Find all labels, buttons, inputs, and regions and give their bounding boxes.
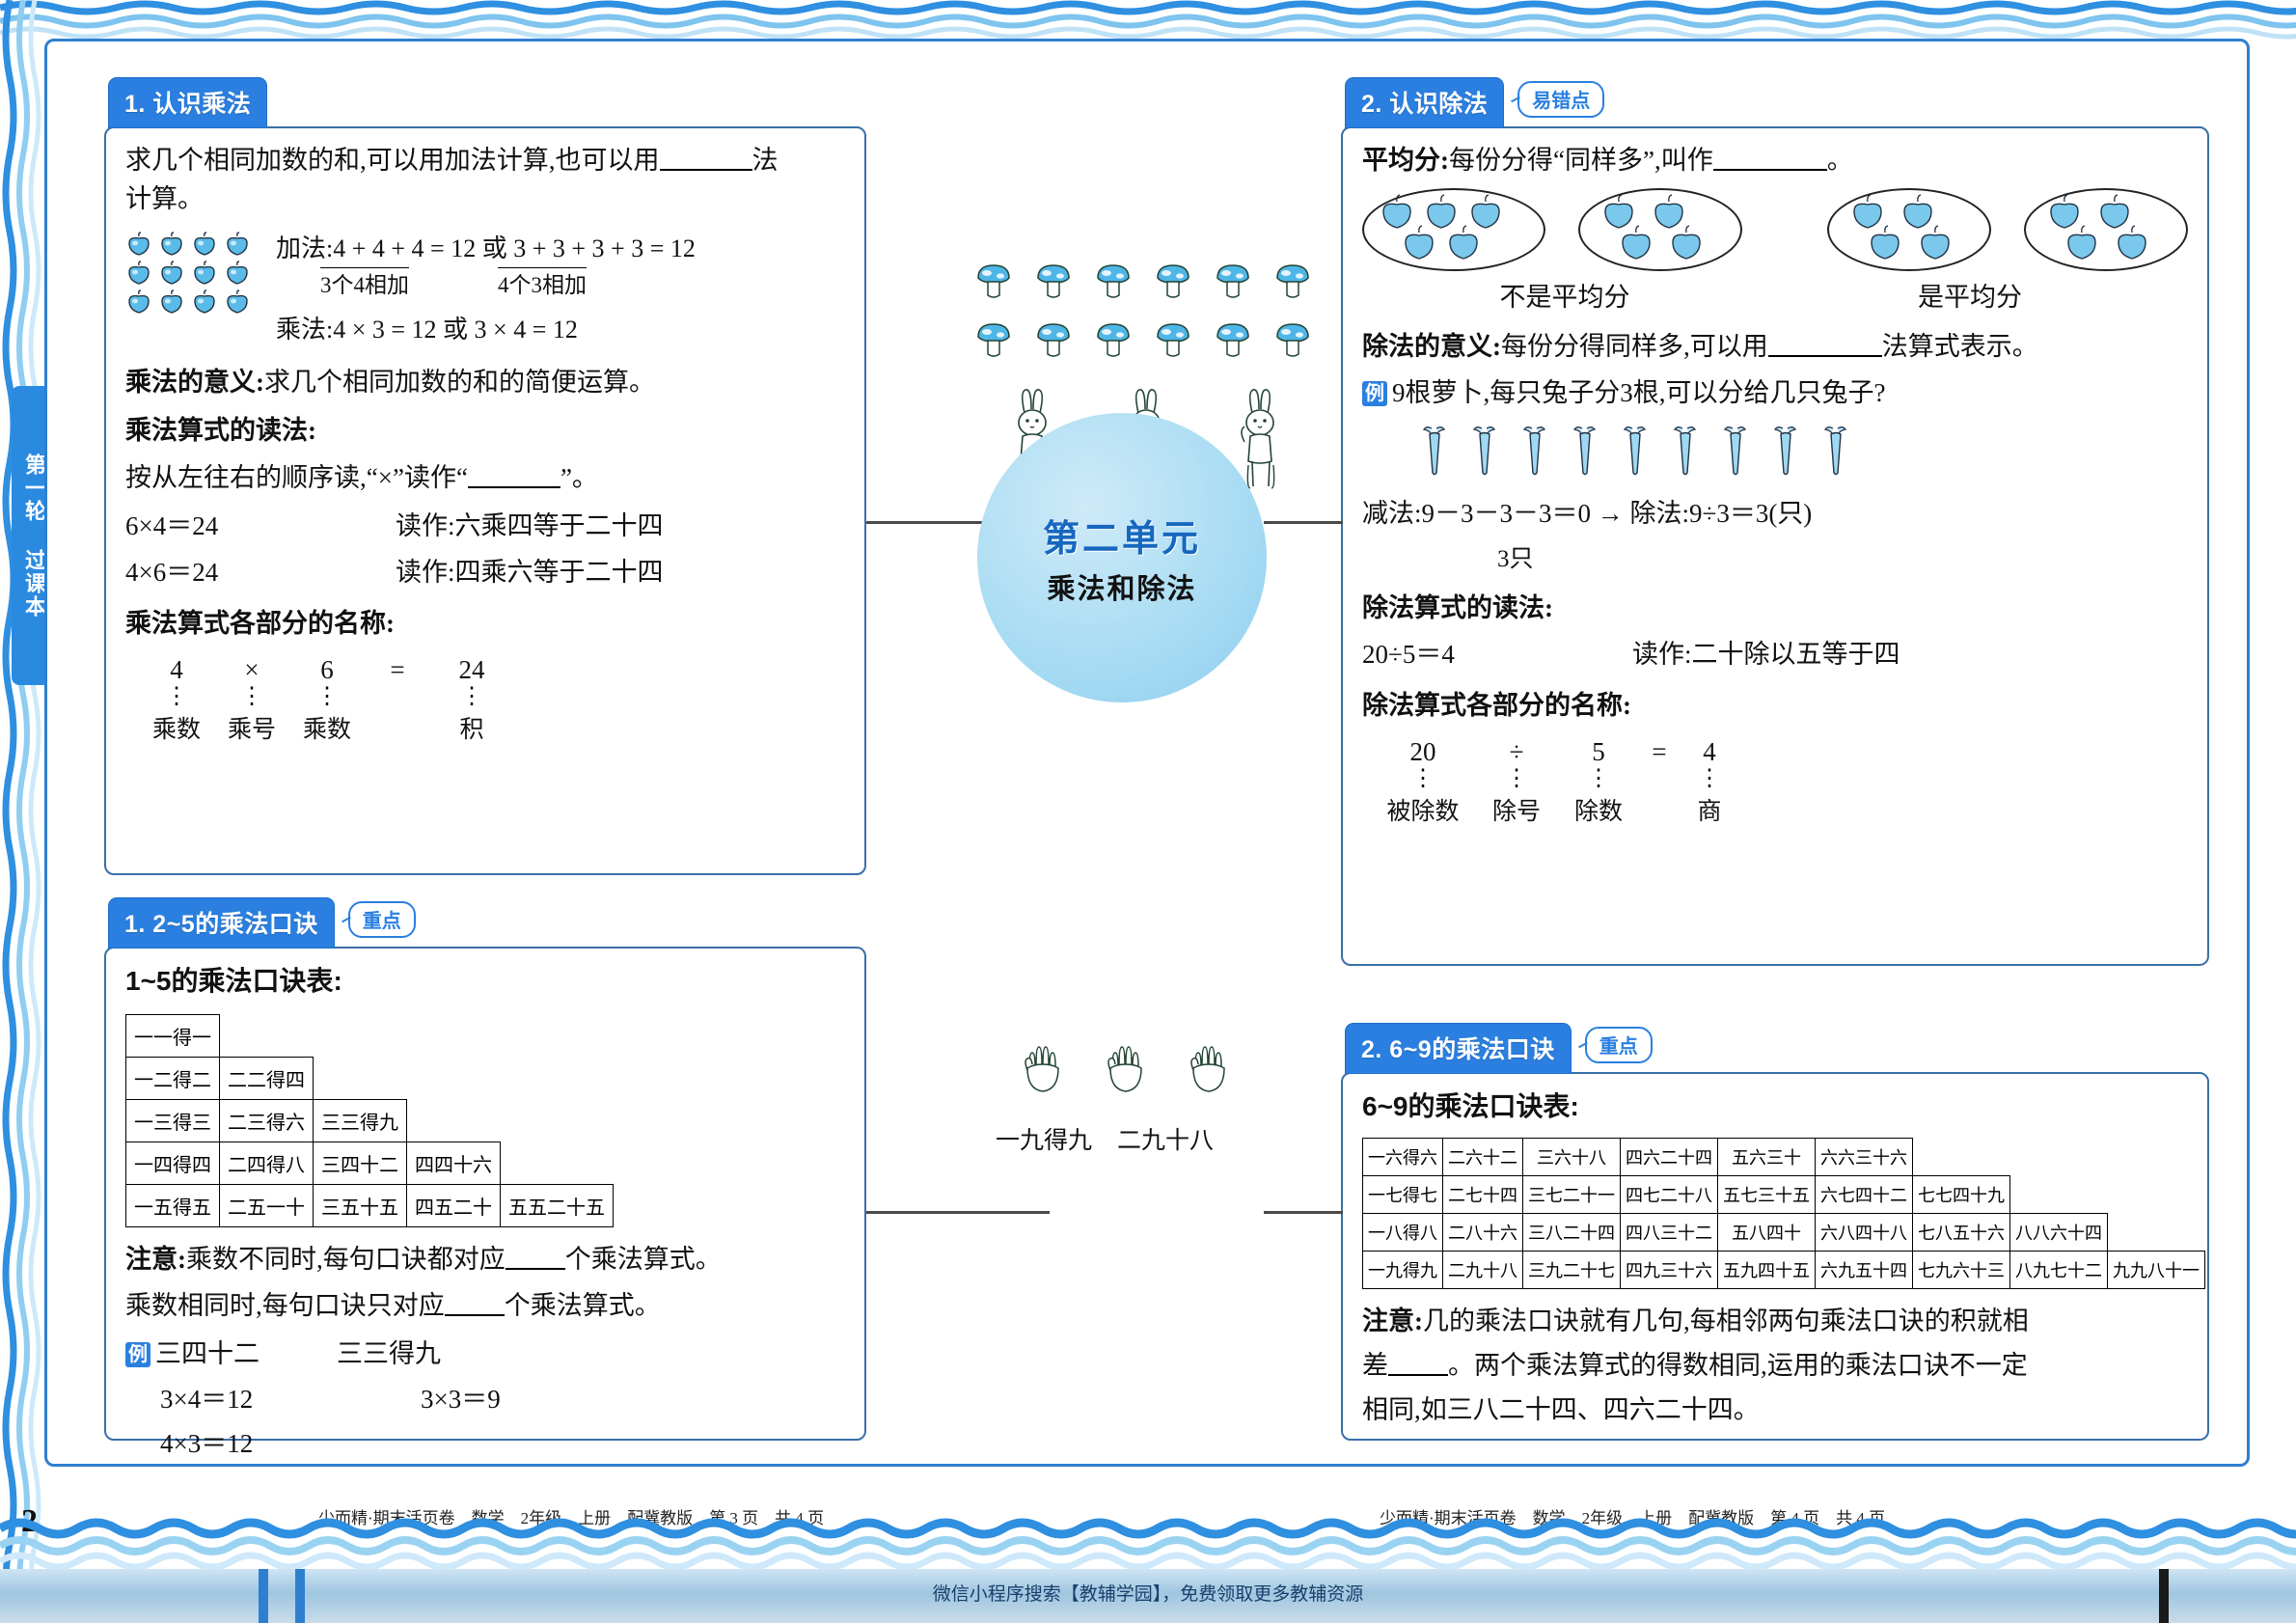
reading-example-row: 6×4＝24 读作:六乘四等于二十四 [125,508,845,544]
parts-title: 乘法算式各部分的名称: [125,605,845,642]
reading-rule-b: ”。 [560,463,598,492]
multiplication-formula-line: 乘法:4 × 3 = 12 或 3 × 4 = 12 [276,313,845,348]
card-table-6-9: 2. 6~9的乘法口诀 重点 6~9的乘法口诀表: 一六得六 二六十二 三六十八… [1341,1023,2209,1441]
table-6-9-title: 6~9的乘法口诀表: [1362,1087,2188,1126]
badge-key-point: 重点 [348,901,416,938]
mushroom-icon [1034,319,1073,365]
note-6-9-line-b: 差。两个乘法算式的得数相同,运用的乘法口诀不一定 [1362,1347,2188,1384]
apple-icon [191,289,218,315]
table-cell: 二八十六 [1443,1213,1523,1251]
unit3-formula-1: 一九得九 [996,1124,1092,1159]
example-left-row-2: 4×3＝12 [160,1425,343,1462]
reading-example-expression: 4×6＝24 [125,554,309,591]
note-text-a1: 乘数不同时,每句口诀都对应 [186,1245,506,1274]
promo-text: 微信小程序搜索【教辅学园】，免费领取更多教辅资源 [0,1580,2296,1606]
carrot-icon [1821,425,1850,481]
card-title-recognize-multiplication: 1. 认识乘法 [108,77,267,128]
division-meaning-line: 除法的意义:每份分得同样多,可以用法算式表示。 [1362,328,2188,365]
table-cell: 二七十四 [1443,1175,1523,1213]
carrot-icon [1671,425,1700,481]
carrot-icon [1420,425,1449,481]
table-row: 一八得八 二八十六 三八二十四 四八三十二 五八四十 六八四十八 七八五十六 八… [1363,1213,2205,1251]
example-right-row-1: 3×3＝9 [421,1381,501,1417]
card-tab-row: 2. 6~9的乘法口诀 重点 [1345,1023,1653,1074]
carrot-icon [1621,425,1650,481]
unit-2-subtitle: 乘法和除法 [1047,566,1196,607]
table-cell: 八九七十二 [2010,1251,2108,1288]
table-cell: 四八三十二 [1621,1213,1718,1251]
table-2-5-title: 1~5的乘法口诀表: [125,962,845,1001]
average-text-a: 每份分得“同样多”,叫作 [1449,146,1713,175]
example-rows-2: 4×3＝12 [125,1425,845,1462]
left-wave-decoration [0,0,42,1623]
table-cell: 四九三十六 [1621,1251,1718,1288]
table-cell: 四六二十四 [1621,1138,1718,1175]
blank-fill-3[interactable] [1713,169,1827,171]
division-dividend: 20 [1372,733,1474,770]
parts-equals: = [365,651,430,688]
intro-text-tail: 法 [752,146,779,175]
table-row: 一七得七 二七十四 三七二十一 四七二十八 五七三十五 六七四十二 七七四十九 [1363,1175,2205,1213]
dotted-link-icon: ⋮ [1372,770,1474,788]
badge-key-point: 重点 [1585,1027,1653,1063]
division-part-name-4: 商 [1681,795,1738,830]
card-recognize-division: 2. 认识除法 易错点 平均分:每份分得“同样多”,叫作。 [1341,77,2209,966]
table-cell: 七七四十九 [1913,1175,2010,1213]
table-cell: 二九十八 [1443,1251,1523,1288]
parts-name-2: 乘号 [214,713,289,748]
subtraction-note: 3只 [1497,542,2188,577]
parts-diagram: 4 × 6 = 24 ⋮ ⋮ ⋮ ⋮ 乘数 乘号 乘数 积 [139,651,845,747]
table-row: 一六得六 二六十二 三六十八 四六二十四 五六三十 六六三十六 [1363,1138,2205,1175]
card-tab-row: 1. 2~5的乘法口诀 重点 [108,897,416,949]
apple-icon [191,232,218,257]
dotted-link-icon: ⋮ [1474,770,1559,788]
division-equals: = [1638,733,1681,770]
apple-icon [125,261,152,286]
division-reading-title: 除法算式的读法: [1362,590,2188,626]
bottom-wave-decoration [0,1517,2296,1571]
addition-formula-line: 加法:4 + 4 + 4 = 12 或 3 + 3 + 3 + 3 = 12 [276,232,845,267]
table-cell: 二六十二 [1443,1138,1523,1175]
connector-line-left-unit3 [866,1211,1050,1214]
mushroom-icon [1154,261,1192,306]
table-cell: 九九八十一 [2108,1251,2205,1288]
mushroom-decoration-group [974,261,1312,365]
dotted-link-icon: ⋮ [214,688,289,706]
table-row: 一四得四 二四得八 三四十二 四四十六 [126,1142,614,1184]
table-cell: 五五二十五 [501,1184,614,1226]
card-body-recognize-division: 平均分:每份分得“同样多”,叫作。 [1341,126,2209,966]
division-parts-diagram: 20 ÷ 5 = 4 ⋮ ⋮ ⋮ ⋮ 被除数 除号 除数 商 [1372,733,2188,829]
top-wave-decoration [0,0,2296,41]
dotted-link-icon: ⋮ [1681,770,1738,788]
multiplication-table-6-9: 一六得六 二六十二 三六十八 四六二十四 五六三十 六六三十六 一七得七 二七十… [1362,1138,2205,1289]
table-cell: 四五二十 [407,1184,501,1226]
example-left-title: 三四十二 [155,1339,260,1368]
dotted-link-icon: ⋮ [139,688,214,706]
dotted-link-icon: ⋮ [430,688,513,706]
note-6-9-line-c: 相同,如三八二十四、四六二十四。 [1362,1391,2188,1428]
meaning-title: 乘法的意义: [125,368,264,397]
division-reading-row: 20÷5＝4 读作:二十除以五等于四 [1362,636,2188,673]
note-text-a2: 个乘法算式。 [565,1245,722,1274]
intro-paragraph: 求几个相同加数的和,可以用加法计算,也可以用法 [125,142,830,179]
division-part-name-2: 除号 [1474,795,1559,830]
badge-common-mistake: 易错点 [1517,81,1604,118]
card-title-recognize-division: 2. 认识除法 [1345,77,1504,128]
table-row: 一九得九 二九十八 三九二十七 四九三十六 五九四十五 六九五十四 七九六十三 … [1363,1251,2205,1288]
apple-icon [224,232,251,257]
mushroom-icon [1094,319,1133,365]
unit-2-title: 第二单元 [1043,509,1201,562]
table-cell: 三六十八 [1523,1138,1621,1175]
mushroom-row [974,319,1312,365]
table-cell: 二五一十 [220,1184,314,1226]
table-cell: 一四得四 [126,1142,220,1184]
subtraction-to-division-line: 减法:9－3－3－3＝0 → 除法:9÷3＝3(只) [1362,495,2188,532]
multiplication-label: 乘法: [276,316,333,344]
card-table-2-5: 1. 2~5的乘法口诀 重点 1~5的乘法口诀表: 一一得一 一二得二 二二得四… [104,897,866,1441]
table-cell: 一三得三 [126,1099,220,1142]
division-parts-title: 除法算式各部分的名称: [1362,687,2188,724]
note-text-b1: 差 [1362,1351,1388,1380]
table-cell: 八八六十四 [2010,1213,2108,1251]
table-cell: 二四得八 [220,1142,314,1184]
reading-example-reading: 读作:四乘六等于二十四 [396,554,664,591]
table-cell: 三三得九 [314,1099,407,1142]
table-cell: 七九六十三 [1913,1251,2010,1288]
table-cell: 三四十二 [314,1142,407,1184]
intro-paragraph-2: 计算。 [125,180,845,217]
apple-icon [125,232,152,257]
reading-rule-a: 按从左往右的顺序读,“×”读作“ [125,463,468,492]
carrot-icon [1721,425,1750,481]
note-text-b1: 乘数相同时,每句口诀只对应 [125,1291,445,1320]
card-tab-row: 2. 认识除法 易错点 [1345,77,1604,128]
table-cell: 五八四十 [1718,1213,1816,1251]
intro-text-a: 求几个相同加数的和,可以用加法计算,也可以用 [125,146,660,175]
unit-bubble-2: 第二单元 乘法和除法 [977,413,1267,702]
division-operator: ÷ [1474,733,1559,770]
note-text-b2: 个乘法算式。 [505,1291,661,1320]
reading-example-row: 4×6＝24 读作:四乘六等于二十四 [125,554,845,591]
card-title-table-6-9: 2. 6~9的乘法口诀 [1345,1023,1572,1074]
mushroom-icon [1094,261,1133,306]
apple-array-illustration [125,232,253,315]
note-line-a: 注意:乘数不同时,每句口诀都对应个乘法算式。 [125,1241,845,1278]
table-row: 一三得三 二三得六 三三得九 [126,1099,614,1142]
table-cell: 六八四十八 [1816,1213,1913,1251]
division-reading-expression: 20÷5＝4 [1362,636,1545,673]
card-recognize-multiplication: 1. 认识乘法 求几个相同加数的和,可以用加法计算,也可以用法 计算。 [104,77,866,875]
reading-rule: 按从左往右的顺序读,“×”读作“”。 [125,459,845,496]
note-text-a: 几的乘法口诀就有几句,每相邻两句乘法口诀的积就相 [1423,1307,2029,1335]
apple-icon [158,232,185,257]
blank-fill-1[interactable] [660,169,752,171]
multiplication-expression: 4 × 3 = 12 或 3 × 4 = 12 [333,316,578,344]
meaning-line: 乘法的意义:求几个相同加数的和的简便运算。 [125,364,845,400]
table-cell: 一九得九 [1363,1251,1443,1288]
example-badge-icon: 例 [125,1342,150,1367]
example-left-title-wrap: 例三四十二 [125,1335,260,1372]
mushroom-icon [1273,319,1312,365]
connector-line-right-unit2 [1264,521,1343,524]
multiplication-table-2-5: 一一得一 一二得二 二二得四 一三得三 二三得六 三三得九 一四得四 二四得八 … [125,1014,614,1227]
table-cell: 一八得八 [1363,1213,1443,1251]
carrot-icon [1520,425,1549,481]
hand-icon [1101,1037,1151,1102]
apple-icon [158,261,185,286]
table-cell: 一七得七 [1363,1175,1443,1213]
connector-line-right-unit3 [1264,1211,1343,1214]
reading-example-reading: 读作:六乘四等于二十四 [396,508,664,544]
addition-label: 加法: [276,234,333,262]
blank-fill-7[interactable] [1388,1374,1448,1376]
mushroom-icon [974,319,1013,365]
table-cell: 五七三十五 [1718,1175,1816,1213]
card-tab-row: 1. 认识乘法 [108,77,267,128]
unit3-formula-2: 二九十八 [1117,1124,1214,1159]
note-6-9-line-a: 注意:几的乘法口诀就有几句,每相邻两句乘法口诀的积就相 [1362,1303,2188,1339]
hand-icon [1018,1037,1068,1102]
parts-name-4: 积 [430,713,513,748]
division-example-line: 例9根萝卜,每只兔子分3根,可以分给几只兔子? [1362,374,2188,411]
division-quotient: 4 [1681,733,1738,770]
table-cell: 三八二十四 [1523,1213,1621,1251]
addition-note-1: 3个4相加 [320,267,409,302]
division-example-text: 9根萝卜,每只兔子分3根,可以分给几只兔子? [1392,378,1885,407]
carrot-illustration [1420,425,2188,481]
intro-text-b: 计算。 [125,184,204,213]
example-badge-icon: 例 [1362,381,1387,406]
group-oval-equal-a [1827,188,1991,271]
group-labels-row: 不是平均分 是平均分 [1362,279,2188,316]
hand-decoration-group [1018,1037,1234,1102]
division-part-name-3: 除数 [1559,795,1638,830]
note-title: 注意: [125,1245,186,1274]
group-oval-not-equal-a [1362,188,1545,271]
division-meaning-title: 除法的意义: [1362,332,1501,361]
parts-name-1: 乘数 [139,713,214,748]
average-definition-line: 平均分:每份分得“同样多”,叫作。 [1362,142,2188,179]
example-left-row-1: 3×4＝12 [160,1381,343,1417]
blank-fill-2[interactable] [468,486,560,488]
example-headers-row: 例三四十二 三三得九 [125,1335,845,1372]
table-cell: 五九四十五 [1718,1251,1816,1288]
hand-icon [1184,1037,1234,1102]
average-title: 平均分: [1362,146,1449,175]
card-body-recognize-multiplication: 求几个相同加数的和,可以用加法计算,也可以用法 计算。 加法: [104,126,866,875]
table-cell: 一一得一 [126,1014,220,1057]
card-body-table-2-5: 1~5的乘法口诀表: 一一得一 一二得二 二二得四 一三得三 二三得六 三三得九… [104,947,866,1441]
apple-icon [224,289,251,315]
table-cell: 一六得六 [1363,1138,1443,1175]
table-cell: 三七二十一 [1523,1175,1621,1213]
reading-example-expression: 6×4＝24 [125,508,309,544]
parts-operator: × [214,651,289,688]
table-row: 一一得一 [126,1014,614,1057]
table-cell: 七八五十六 [1913,1213,2010,1251]
meaning-text: 求几个相同加数的和的简便运算。 [264,368,655,397]
dotted-link-icon: ⋮ [289,688,365,706]
table-cell: 六七四十二 [1816,1175,1913,1213]
dotted-link-icon: ⋮ [1559,770,1638,788]
table-row: 一五得五 二五一十 三五十五 四五二十 五五二十五 [126,1184,614,1226]
carrot-icon [1571,425,1599,481]
example-rows-1: 3×4＝12 3×3＝9 [125,1381,845,1417]
apple-icon [191,261,218,286]
table-cell: 二三得六 [220,1099,314,1142]
unit3-formula-row: 一九得九 二九十八 [996,1124,1214,1159]
mushroom-icon [1154,319,1192,365]
parts-result: 24 [430,651,513,688]
reading-title: 乘法算式的读法: [125,412,845,449]
parts-operand-1: 4 [139,651,214,688]
note-text-b2: 。两个乘法算式的得数相同,运用的乘法口诀不一定 [1448,1351,2028,1380]
mushroom-icon [1214,319,1252,365]
table-cell: 一二得二 [126,1057,220,1099]
label-is-average: 是平均分 [1767,279,2173,316]
note-line-b: 乘数相同时,每句口诀只对应个乘法算式。 [125,1287,845,1324]
division-meaning-text-a: 每份分得同样多,可以用 [1501,332,1768,361]
card-body-table-6-9: 6~9的乘法口诀表: 一六得六 二六十二 三六十八 四六二十四 五六三十 六六三… [1341,1072,2209,1441]
apple-icon [158,289,185,315]
note-title: 注意: [1362,1307,1423,1335]
group-oval-not-equal-b [1578,188,1742,271]
blank-fill-6[interactable] [445,1314,505,1316]
table-cell: 四四十六 [407,1142,501,1184]
division-divisor: 5 [1559,733,1638,770]
addition-expression: 4 + 4 + 4 = 12 或 3 + 3 + 3 + 3 = 12 [333,234,696,262]
blank-fill-4[interactable] [1768,355,1882,357]
table-cell: 六六三十六 [1816,1138,1913,1175]
division-meaning-text-b: 法算式表示。 [1882,332,2038,361]
example-right-title: 三三得九 [337,1335,441,1372]
table-cell: 三五十五 [314,1184,407,1226]
table-cell: 五六三十 [1718,1138,1816,1175]
card-title-table-2-5: 1. 2~5的乘法口诀 [108,897,335,949]
parts-name-3: 乘数 [289,713,365,748]
division-part-name-1: 被除数 [1372,795,1474,830]
average-text-b: 。 [1827,146,1853,175]
apple-icon [224,261,251,286]
mushroom-icon [1273,261,1312,306]
table-cell: 四七二十八 [1621,1175,1718,1213]
table-cell: 一五得五 [126,1184,220,1226]
table-cell: 六九五十四 [1816,1251,1913,1288]
mushroom-icon [1214,261,1252,306]
carrot-icon [1470,425,1499,481]
blank-fill-5[interactable] [506,1268,565,1270]
division-reading-reading: 读作:二十除以五等于四 [1632,636,1900,673]
apple-icon [125,289,152,315]
addition-note-2: 4个3相加 [498,267,587,302]
mushroom-row [974,261,1312,306]
parts-operand-2: 6 [289,651,365,688]
mushroom-icon [974,261,1013,306]
table-cell: 二二得四 [220,1057,314,1099]
table-row: 一二得二 二二得四 [126,1057,614,1099]
average-groups-illustration [1362,188,2188,271]
group-oval-equal-b [2024,188,2188,271]
table-cell: 三九二十七 [1523,1251,1621,1288]
label-not-average: 不是平均分 [1362,279,1767,316]
carrot-icon [1771,425,1800,481]
dotted-link-spacer [365,688,430,706]
mushroom-icon [1034,261,1073,306]
